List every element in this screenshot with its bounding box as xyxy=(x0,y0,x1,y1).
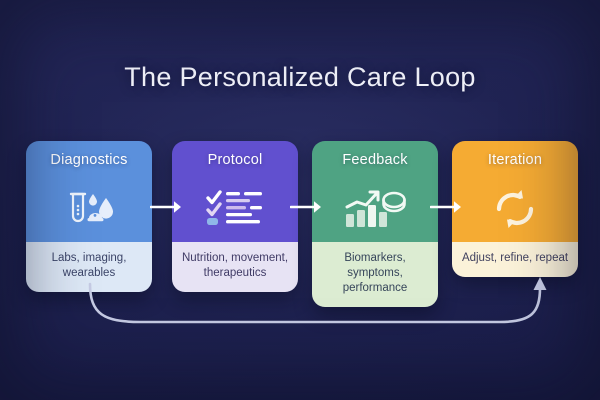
card-header-feedback: Feedback xyxy=(312,141,438,242)
infographic-canvas: The Personalized Care Loop Diagnostics xyxy=(0,0,600,400)
arrow-right-icon-2 xyxy=(290,198,324,216)
arrow-right-icon-3 xyxy=(430,198,464,216)
page-title: The Personalized Care Loop xyxy=(0,62,600,93)
test-tube-droplets-icon xyxy=(26,183,152,235)
checklist-icon xyxy=(172,183,298,235)
card-caption: Diagnostics xyxy=(26,152,152,168)
refresh-cycle-icon xyxy=(452,183,578,235)
bar-chart-trend-icon xyxy=(312,183,438,235)
card-header-diagnostics: Diagnostics xyxy=(26,141,152,242)
card-header-protocol: Protocol xyxy=(172,141,298,242)
card-caption: Protocol xyxy=(172,152,298,168)
card-header-iteration: Iteration xyxy=(452,141,578,242)
loop-back-arrow-icon xyxy=(0,250,600,360)
card-caption: Iteration xyxy=(452,152,578,168)
arrow-right-icon-1 xyxy=(150,198,184,216)
card-caption: Feedback xyxy=(312,152,438,168)
